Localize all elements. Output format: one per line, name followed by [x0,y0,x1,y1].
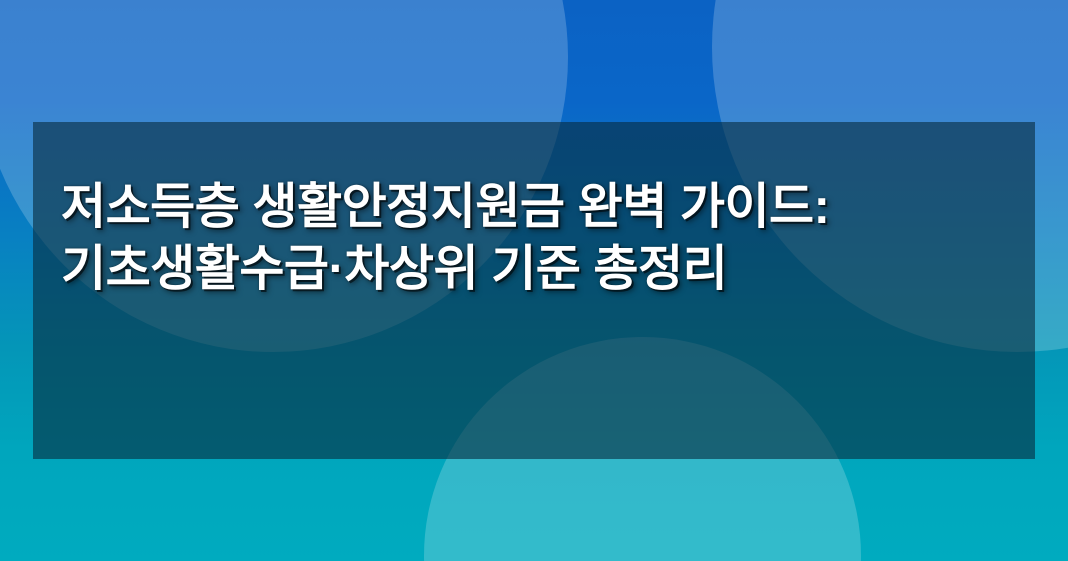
title-container: 저소득층 생활안정지원금 완벽 가이드: 기초생활수급·차상위 기준 총정리 [33,122,1035,459]
hero-banner: 저소득층 생활안정지원금 완벽 가이드: 기초생활수급·차상위 기준 총정리 [0,0,1068,561]
banner-title: 저소득층 생활안정지원금 완벽 가이드: 기초생활수급·차상위 기준 총정리 [61,177,1007,300]
